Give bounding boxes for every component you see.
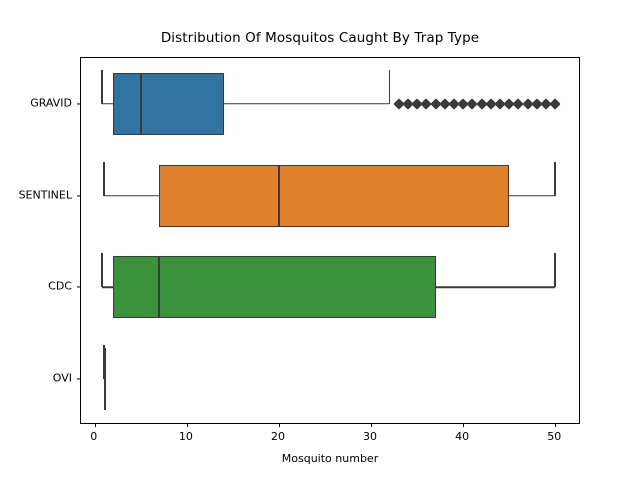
x-tick-label: 40 — [455, 430, 469, 443]
x-tick-mark — [279, 423, 280, 427]
y-tick-label-gravid: GRAVID — [0, 96, 72, 109]
whisker-cap-low — [101, 70, 103, 104]
plot-axes — [80, 57, 580, 424]
plot-area — [81, 58, 579, 423]
x-tick-mark — [187, 423, 188, 427]
figure-canvas: Distribution Of Mosquitos Caught By Trap… — [0, 0, 640, 480]
y-tick-label-sentinel: SENTINEL — [0, 188, 72, 201]
x-tick-mark — [463, 423, 464, 427]
x-tick-label: 20 — [271, 430, 285, 443]
median-sentinel — [278, 165, 280, 227]
y-tick-mark — [77, 287, 81, 288]
x-axis-label: Mosquito number — [80, 452, 580, 465]
median-gravid — [140, 73, 142, 135]
whisker-high — [436, 287, 556, 289]
whisker-cap-low — [101, 253, 103, 287]
y-tick-mark — [77, 379, 81, 380]
whisker-cap-high — [389, 70, 391, 104]
whisker-low — [102, 287, 113, 289]
y-tick-label-cdc: CDC — [0, 280, 72, 293]
x-tick-label: 50 — [547, 430, 561, 443]
x-tick-mark — [555, 423, 556, 427]
whisker-cap-high — [554, 253, 556, 287]
x-tick-label: 0 — [90, 430, 97, 443]
chart-title: Distribution Of Mosquitos Caught By Trap… — [0, 30, 640, 46]
box-ovi — [104, 348, 106, 410]
box-gravid — [113, 73, 223, 135]
median-cdc — [158, 256, 160, 318]
outlier-marker — [550, 98, 561, 109]
y-tick-mark — [77, 103, 81, 104]
box-cdc — [113, 256, 435, 318]
whisker-cap-high — [554, 162, 556, 196]
x-tick-mark — [95, 423, 96, 427]
box-sentinel — [159, 165, 509, 227]
whisker-high — [224, 103, 390, 105]
y-tick-mark — [77, 195, 81, 196]
x-tick-label: 30 — [363, 430, 377, 443]
whisker-low — [102, 103, 113, 105]
whisker-high — [509, 195, 555, 197]
y-tick-label-ovi: OVI — [0, 372, 72, 385]
x-tick-label: 10 — [179, 430, 193, 443]
x-tick-mark — [371, 423, 372, 427]
whisker-low — [104, 195, 159, 197]
whisker-cap-low — [103, 162, 105, 196]
